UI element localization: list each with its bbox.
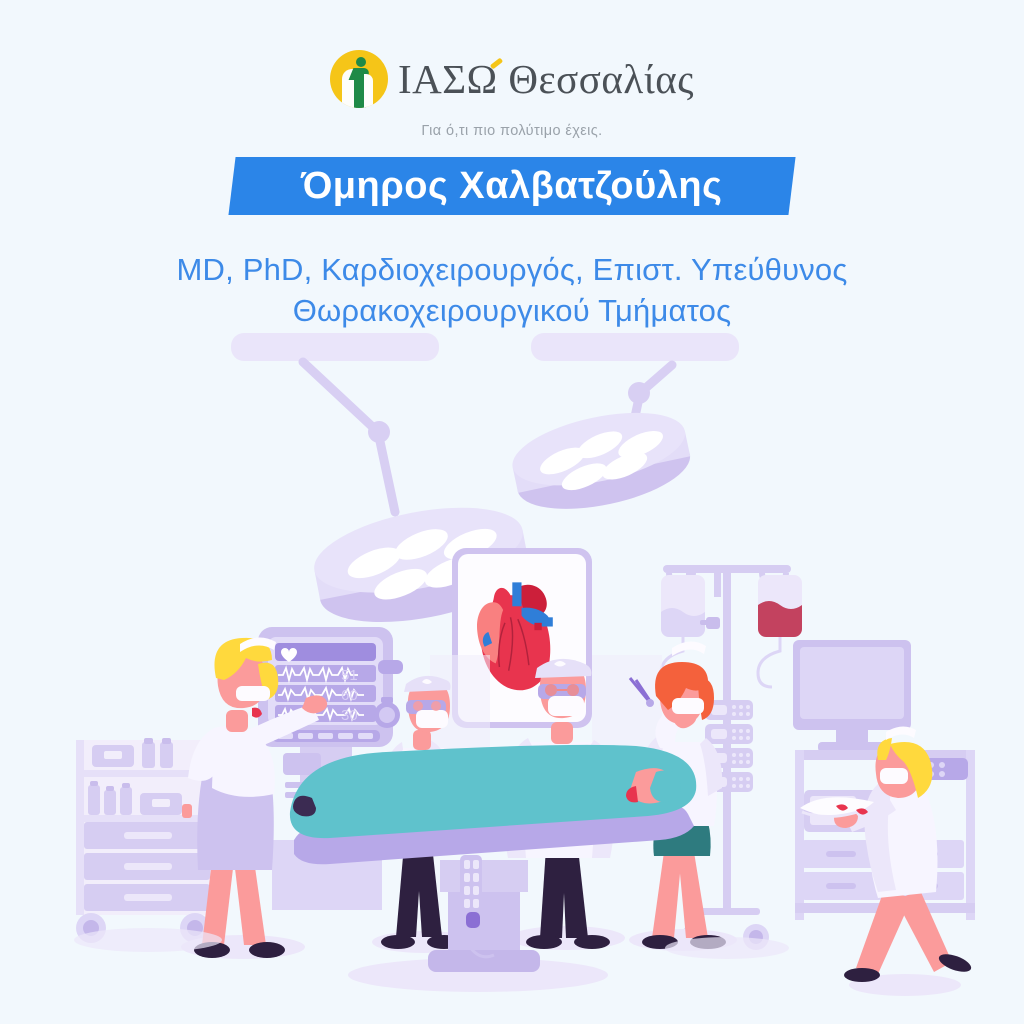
credentials-line-2: Θωρακοχειρουργικού Τμήματος (0, 291, 1024, 332)
vitals-monitor: 51 60 30 (258, 627, 403, 910)
supply-cart (76, 738, 218, 943)
operating-table (290, 745, 696, 992)
anatomical-heart (477, 582, 553, 690)
lamp-arms (303, 362, 672, 512)
svg-text:51: 51 (341, 667, 358, 684)
background-panels (430, 655, 662, 815)
lamp-joint-right (628, 382, 650, 404)
iv-stand (661, 565, 802, 950)
operating-room-illustration: 51 60 30 (0, 0, 1024, 1024)
surgeon-assistant (372, 676, 476, 953)
logo-row[interactable]: ΙΑΣΩ Θεσσαλίας (330, 48, 694, 110)
doctor-credentials: MD, PhD, Καρδιοχειρουργός, Επιστ. Υπεύθυ… (0, 250, 1024, 332)
surgical-lamp-left (307, 493, 535, 638)
brand-name: ΙΑΣΩ Θεσσαλίας (398, 59, 694, 100)
surgical-scissors (630, 678, 652, 704)
workstation-cabinet (793, 640, 975, 920)
svg-text:30: 30 (341, 707, 358, 724)
iaso-logo-icon (330, 50, 388, 108)
doctor-name: Όμηρος Χαλβατζούλης (301, 165, 722, 208)
svg-text:60: 60 (341, 687, 358, 704)
credentials-line-1: MD, PhD, Καρδιοχειρουργός, Επιστ. Υπεύθυ… (0, 250, 1024, 291)
nurse-right-red-hair (629, 641, 737, 951)
nurse-left-blonde (181, 637, 327, 959)
nurse-far-right-blonde (800, 726, 973, 996)
lamp-joint-left (368, 421, 390, 443)
logo-accent-mark (490, 57, 503, 69)
doctor-name-banner: Όμηρος Χαλβατζούλης (228, 157, 795, 215)
heart-display-screen (452, 548, 592, 728)
surgical-lamp-right (506, 400, 696, 523)
heart-icon (281, 648, 297, 662)
poster-canvas: 51 60 30 (0, 0, 1024, 1024)
brand-header: ΙΑΣΩ Θεσσαλίας Για ό,τι πιο πολύτιμο έχε… (0, 48, 1024, 139)
brand-tagline: Για ό,τι πιο πολύτιμο έχεις. (0, 123, 1024, 139)
floor-shadows (74, 928, 789, 959)
surgeon-main (504, 659, 626, 950)
lamp-ceiling-mounts (231, 333, 739, 361)
